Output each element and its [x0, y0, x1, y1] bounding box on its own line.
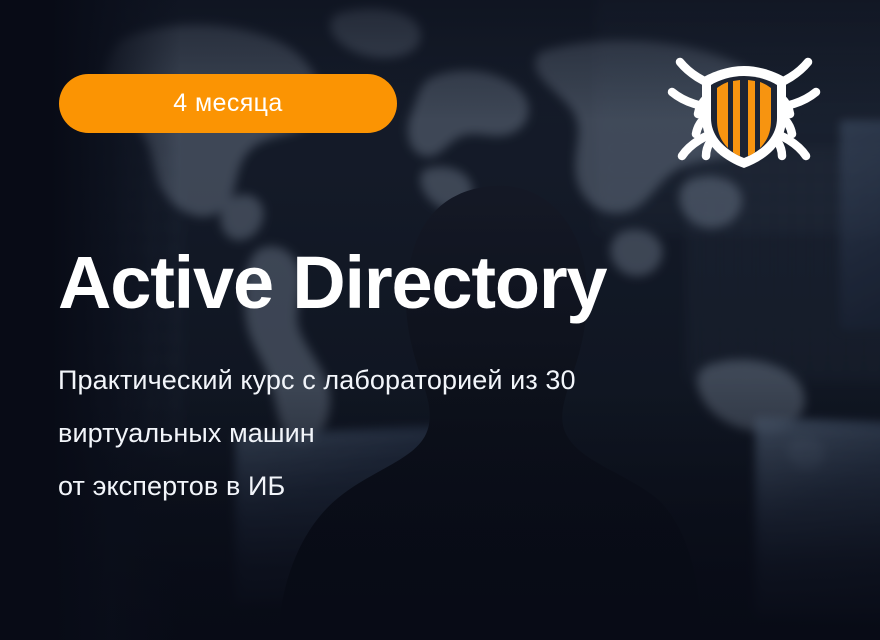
course-title: Active Directory: [58, 246, 606, 320]
course-subtitle: Практический курс с лабораторией из 30 в…: [58, 354, 576, 513]
duration-badge[interactable]: 4 месяца: [59, 74, 397, 133]
course-promo-banner: 4 месяца Active Directory Практический к…: [0, 0, 880, 640]
spider-shield-logo-icon: [664, 52, 824, 170]
banner-content: 4 месяца Active Directory Практический к…: [0, 0, 880, 640]
duration-badge-label: 4 месяца: [173, 89, 282, 118]
